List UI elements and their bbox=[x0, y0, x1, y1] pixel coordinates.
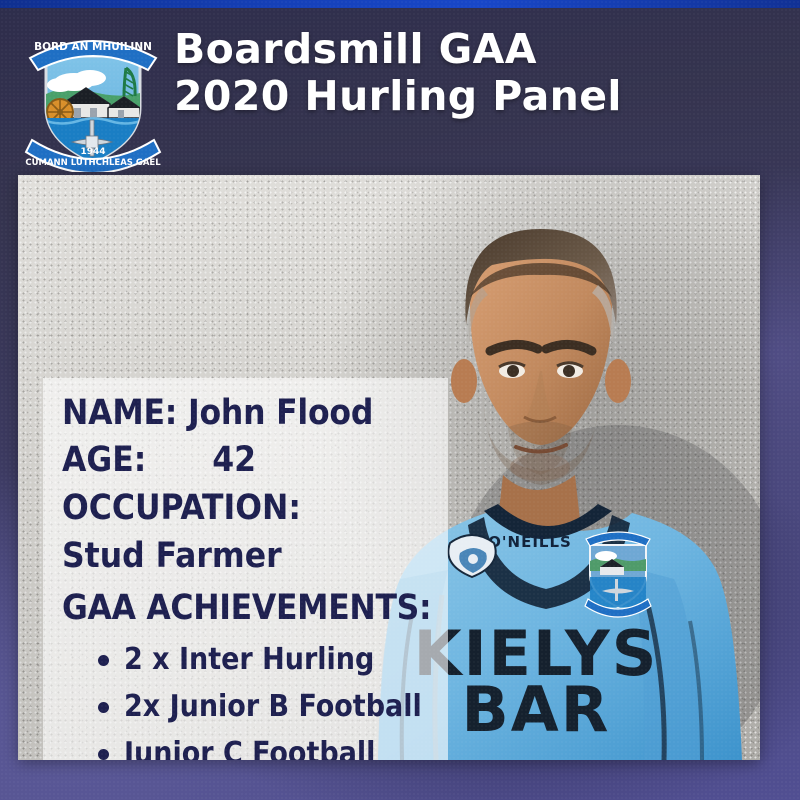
club-crest-icon: BORD AN MHUILINN CUMANN LUTHCHLEAS GAEL … bbox=[22, 20, 164, 172]
jersey-sponsor-line2: BAR bbox=[462, 673, 611, 746]
occupation-value: Stud Farmer bbox=[62, 532, 462, 580]
age-value: 42 bbox=[212, 440, 256, 480]
name-row: NAME: John Flood bbox=[62, 390, 462, 436]
top-accent-strip bbox=[0, 0, 800, 8]
list-item: Junior C Football bbox=[62, 730, 462, 760]
occupation-label: OCCUPATION: bbox=[62, 484, 462, 532]
list-item: 2x Junior B Football bbox=[62, 683, 462, 730]
poster-header: BORD AN MHUILINN CUMANN LUTHCHLEAS GAEL … bbox=[0, 8, 800, 176]
achievements-label: GAA ACHIEVEMENTS: bbox=[62, 580, 462, 636]
name-label: NAME: bbox=[62, 393, 177, 433]
age-label: AGE: bbox=[62, 440, 146, 480]
achievements-list: 2 x Inter Hurling 2x Junior B Football J… bbox=[62, 636, 462, 760]
jersey-brand-text: O'NEILLS bbox=[488, 533, 572, 551]
jersey-crest-icon bbox=[585, 532, 651, 617]
age-row: AGE: 42 bbox=[62, 436, 462, 484]
title-line-2: 2020 Hurling Panel bbox=[174, 73, 784, 120]
list-item: 2 x Inter Hurling bbox=[62, 636, 462, 683]
crest-bottom-banner-text: CUMANN LUTHCHLEAS GAEL bbox=[25, 158, 161, 168]
title-line-1: Boardsmill GAA bbox=[174, 26, 784, 73]
crest-year-text: 1944 bbox=[80, 147, 105, 157]
player-photo: O'NEILLS KIELYS BAR bbox=[18, 175, 760, 760]
crest-top-banner-text: BORD AN MHUILINN bbox=[34, 41, 152, 53]
page-title: Boardsmill GAA 2020 Hurling Panel bbox=[174, 26, 784, 119]
name-value: John Flood bbox=[188, 393, 373, 433]
poster-canvas: BORD AN MHUILINN CUMANN LUTHCHLEAS GAEL … bbox=[0, 0, 800, 800]
profile-info: NAME: John Flood AGE: 42 OCCUPATION: Stu… bbox=[62, 390, 462, 760]
